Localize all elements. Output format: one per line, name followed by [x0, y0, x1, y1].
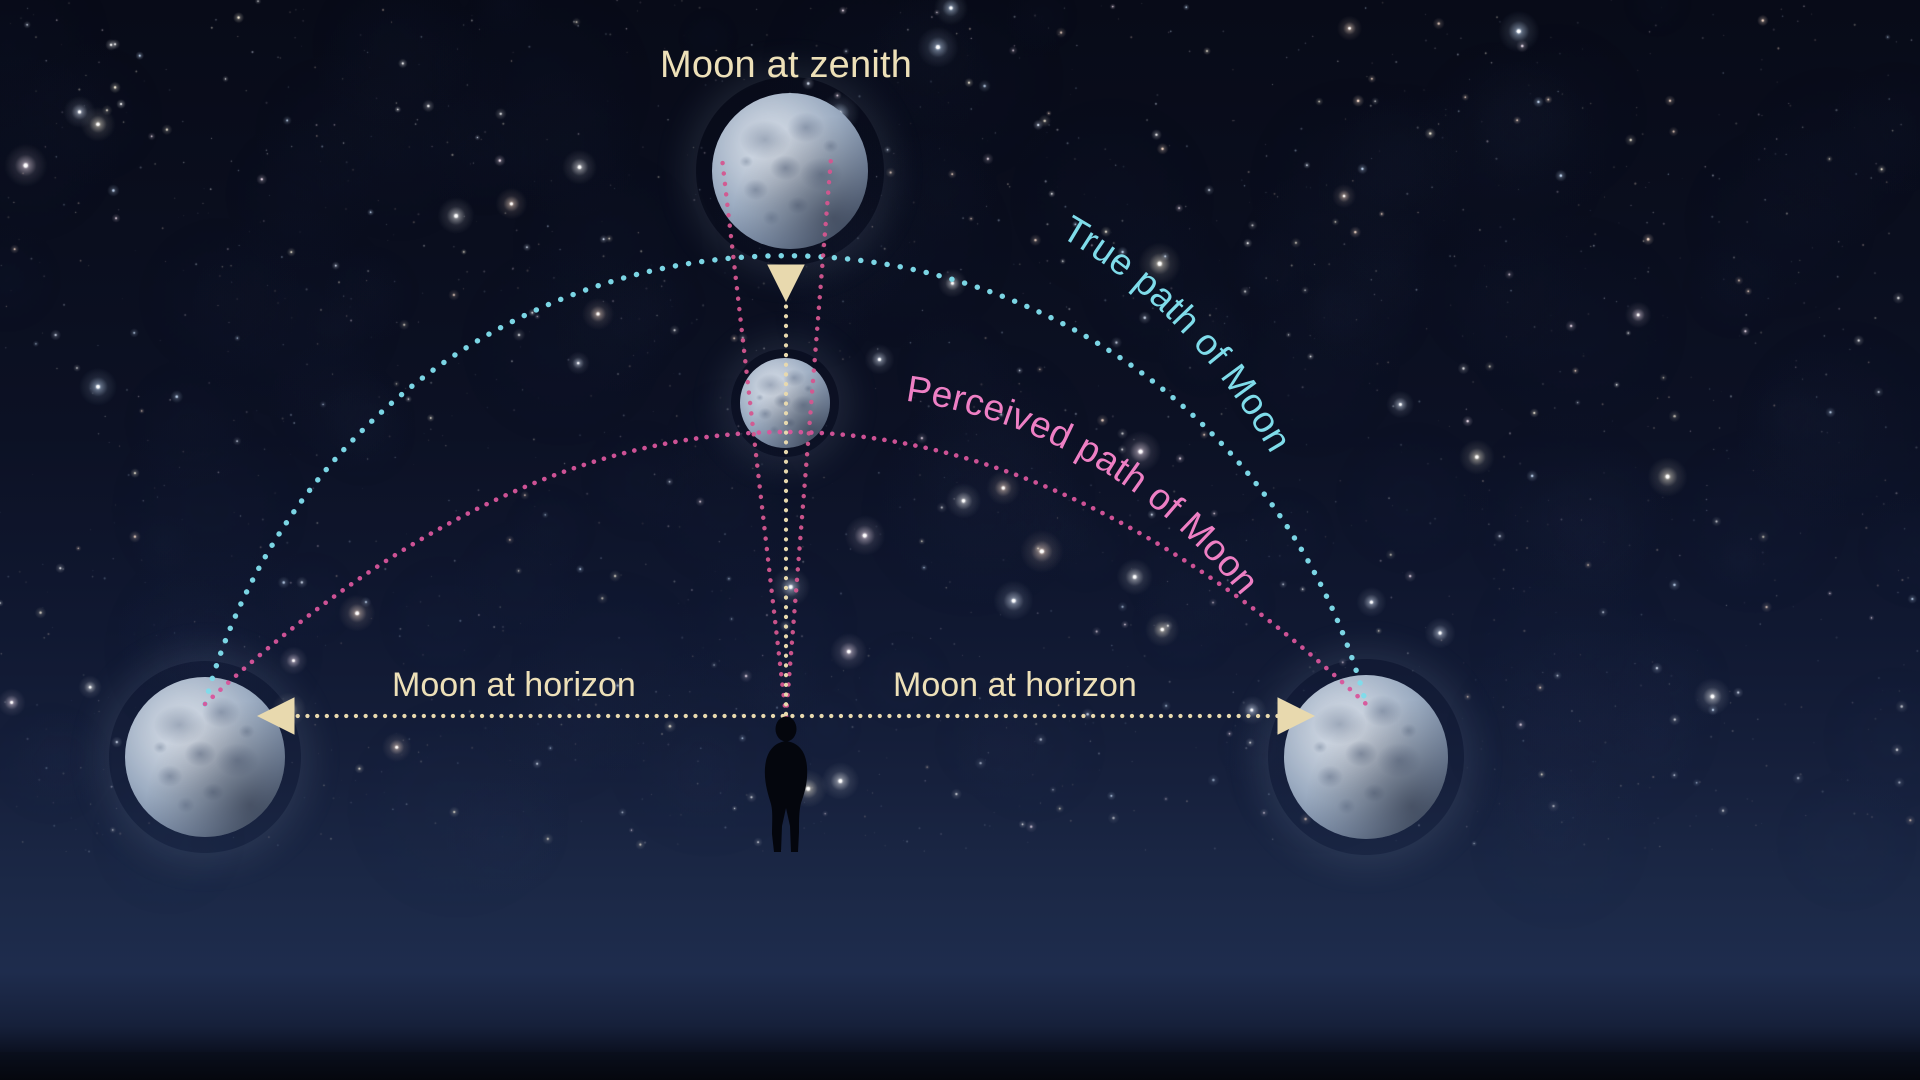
horizon-label-right: Moon at horizon: [893, 666, 1137, 705]
moon-shading: [1284, 675, 1448, 839]
starfield-background: [0, 0, 1920, 1080]
horizon-label-left: Moon at horizon: [392, 666, 636, 705]
ground-strip: [0, 1052, 1920, 1080]
moon-horizon-left: [125, 677, 285, 837]
moon-shading: [740, 358, 830, 448]
moon-illusion-diagram: True path of Moon Perceived path of Moon…: [0, 0, 1920, 1080]
moon-horizon-right: [1284, 675, 1448, 839]
page-title: Moon at zenith: [660, 44, 912, 87]
moon-shading: [125, 677, 285, 837]
moon-perceived: [740, 358, 830, 448]
moon-shading: [712, 93, 868, 249]
moon-zenith: [712, 93, 868, 249]
